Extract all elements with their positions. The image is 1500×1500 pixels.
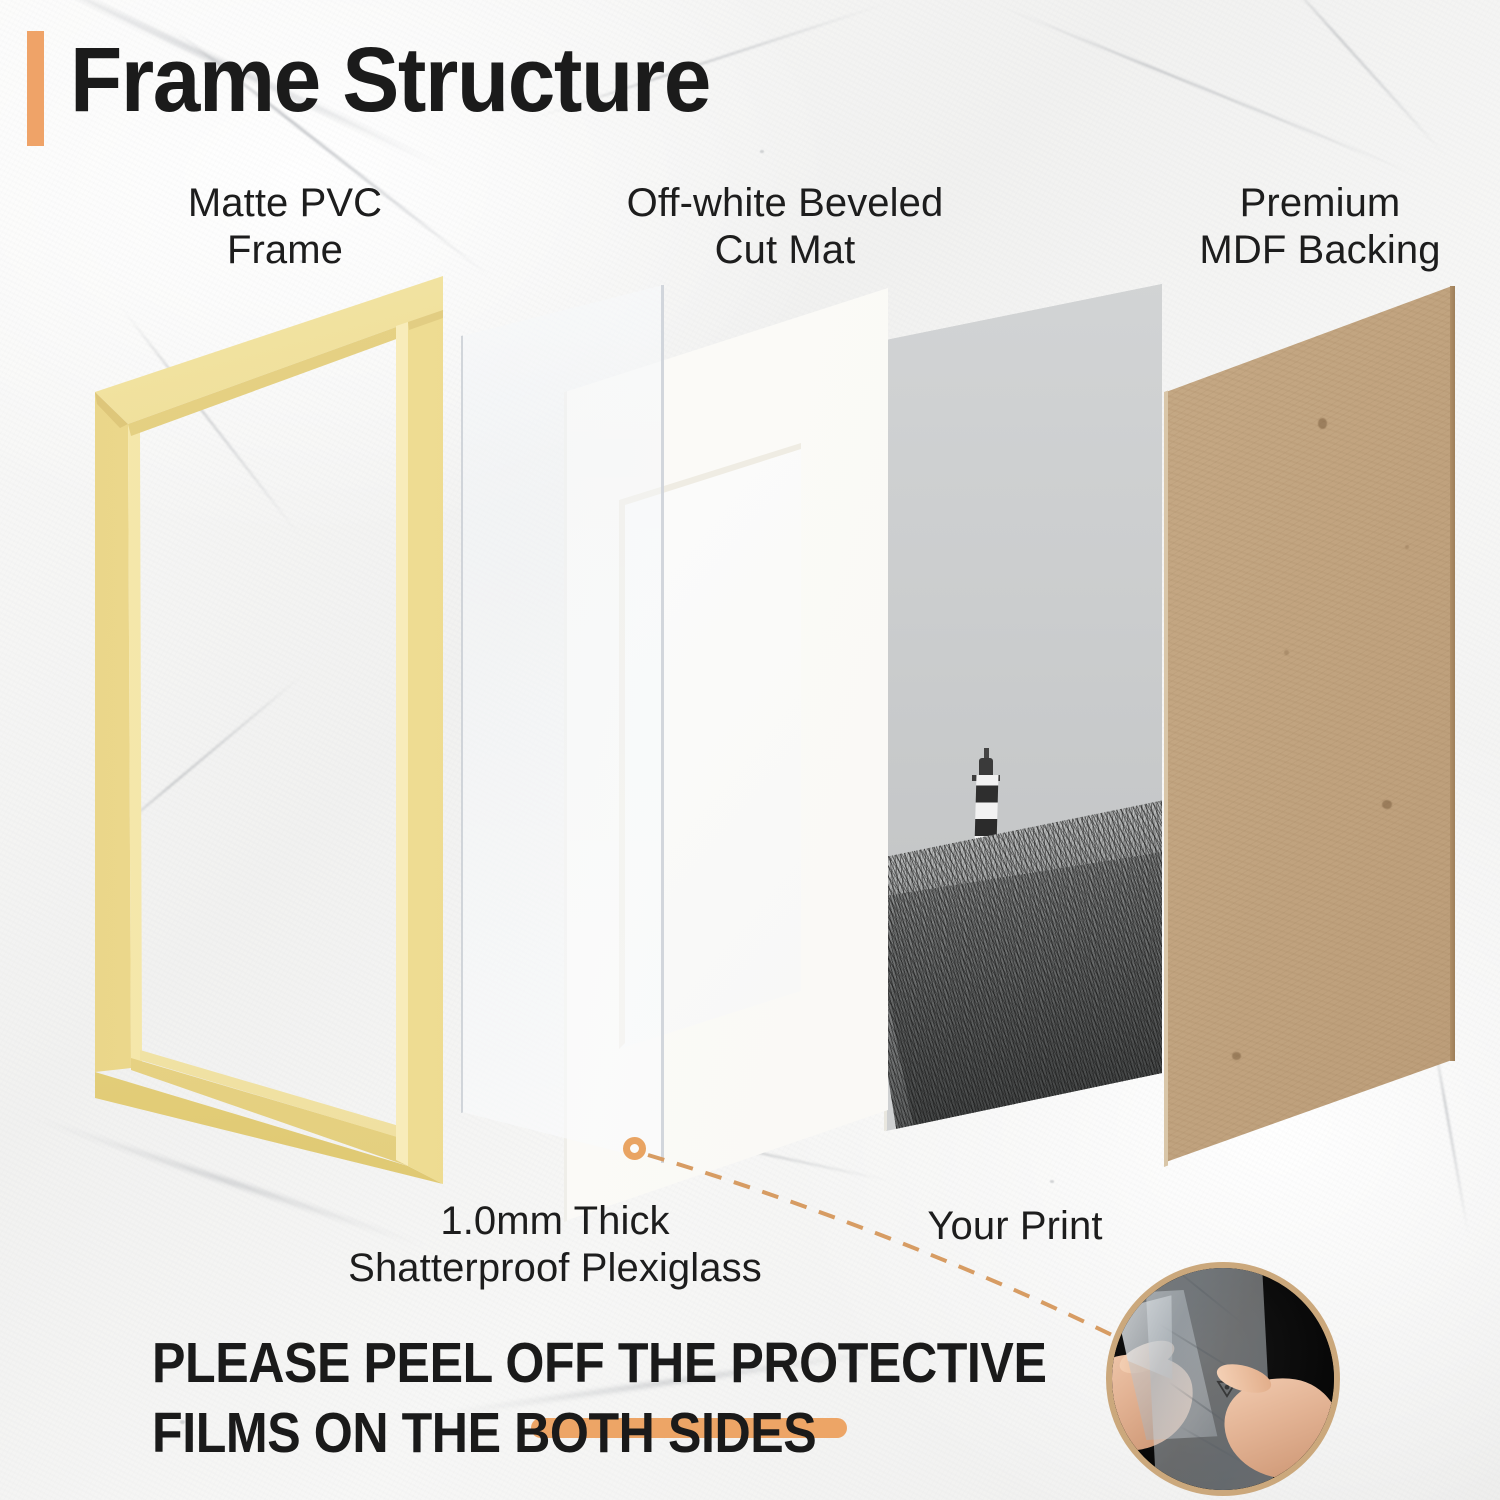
peel-warning-line-1: PLEASE PEEL OFF THE PROTECTIVE [152, 1330, 1046, 1396]
protective-film-inset-photo [1106, 1262, 1340, 1496]
peel-warning-line-2: FILMS ON THE BOTH SIDES [152, 1400, 816, 1466]
callout-anchor-dot [623, 1137, 646, 1160]
label-your-print: Your Print [880, 1203, 1150, 1250]
label-plexiglass: 1.0mm ThickShatterproof Plexiglass [300, 1198, 810, 1292]
infographic-canvas: Frame Structure Matte PVCFrame Off-white… [0, 0, 1500, 1500]
